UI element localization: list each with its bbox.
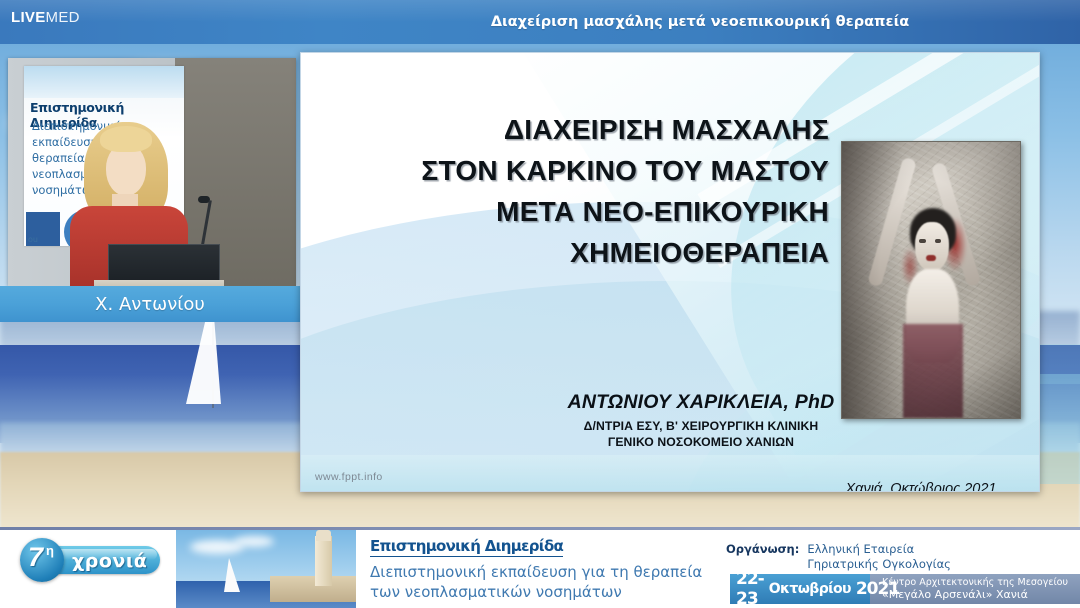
author-hospital: ΓΕΝΙΚΟ ΝΟΣΟΚΟΜΕΙΟ ΧΑΝΙΩΝ <box>471 435 931 449</box>
date-bar-date-panel: 22-23 Οκτωβρίου 2021 <box>730 574 870 604</box>
event-date-days: 22-23 <box>730 569 764 608</box>
organizer-label: Οργάνωση: <box>726 542 799 572</box>
speaker-name-label: Χ. Αντωνίου <box>95 294 205 315</box>
slide-title-line: ΣΤΟΝ ΚΑΡΚΙΝΟ ΤΟΥ ΜΑΣΤΟΥ <box>349 150 829 191</box>
slide-watermark: www.fppt.info <box>315 471 383 483</box>
badge-word-label: χρονιά <box>72 550 147 572</box>
author-name: ΑΝΤΩΝΙΟΥ ΧΑΡΙΚΛΕΙΑ, PhD <box>471 391 931 414</box>
venue-line-2: «Μεγάλο Αρσενάλι» Χανιά <box>882 588 1028 601</box>
artwork-vignette <box>842 142 1020 418</box>
footer-event-heading: Επιστημονική Διημερίδα <box>370 537 563 557</box>
livemed-logo[interactable]: LIVEMED <box>11 9 80 26</box>
sailboat-sail <box>224 558 240 592</box>
speaker-video-panel[interactable]: Επιστημονική Διημερίδα Διεπιστημονική εκ… <box>8 58 296 286</box>
banner-footer-mark: ou <box>28 235 38 244</box>
speaker-fringe <box>100 126 152 152</box>
speaker-name-bar: Χ. Αντωνίου <box>0 286 300 322</box>
presentation-header-title: Διαχείριση μασχάλης μετά νεοεπικουρική θ… <box>330 0 1070 44</box>
logo-med-text: MED <box>46 9 80 26</box>
footer-organizer: Οργάνωση: Ελληνική Εταιρεία Γηριατρικής … <box>726 542 951 572</box>
cloud-shape <box>234 536 274 547</box>
slide-author-block: ΑΝΤΩΝΙΟΥ ΧΑΡΙΚΛΕΙΑ, PhD Δ/ΝΤΡΙΑ ΕΣΥ, Β' … <box>471 391 931 449</box>
player-top-bar: LIVEMED Διαχείριση μασχάλης μετά νεοεπικ… <box>0 0 1080 44</box>
footer-event-subtitle-line: των νεοπλασματικών νοσημάτων <box>370 582 702 602</box>
venue-line-1: Κέντρο Αρχιτεκτονικής της Μεσογείου <box>882 577 1068 588</box>
anniversary-badge: χρονιά 7 η <box>14 538 164 580</box>
slide-artwork-image <box>841 141 1021 419</box>
slide-title-line: ΜΕΤΑ ΝΕΟ-ΕΠΙΚΟΥΡΙΚΗ <box>349 191 829 232</box>
badge-ordinal: η <box>46 543 54 558</box>
presentation-viewer: LIVEMED Διαχείριση μασχάλης μετά νεοεπικ… <box>0 0 1080 608</box>
slide-title-line: ΔΙΑΧΕΙΡΙΣΗ ΜΑΣΧΑΛΗΣ <box>349 109 829 150</box>
footer-event-text: Επιστημονική Διημερίδα Διεπιστημονική εκ… <box>370 536 702 602</box>
badge-number: 7 <box>28 542 43 573</box>
footer-lighthouse-photo <box>176 530 356 608</box>
organizer-name-line: Γηριατρικής Ογκολογίας <box>807 557 951 572</box>
event-date-month: Οκτωβρίου <box>764 581 851 597</box>
slide-title-line: ΧΗΜΕΙΟΘΕΡΑΠΕΙΑ <box>349 232 829 273</box>
lighthouse-tower <box>315 536 332 586</box>
footer-date-venue-bar: 22-23 Οκτωβρίου 2021 Κέντρο Αρχιτεκτονικ… <box>730 574 1080 604</box>
slide-canvas[interactable]: ΔΙΑΧΕΙΡΙΣΗ ΜΑΣΧΑΛΗΣ ΣΤΟΝ ΚΑΡΚΙΝΟ ΤΟΥ ΜΑΣ… <box>300 52 1040 492</box>
banner-header-strip <box>24 66 184 98</box>
slide-date-place: Χανιά, Οκτώβριος 2021 <box>821 481 1021 492</box>
footer-event-subtitle-line: Διεπιστημονική εκπαίδευση για τη θεραπεί… <box>370 562 702 582</box>
logo-live-text: LIVE <box>11 9 46 26</box>
slide-title: ΔΙΑΧΕΙΡΙΣΗ ΜΑΣΧΑΛΗΣ ΣΤΟΝ ΚΑΡΚΙΝΟ ΤΟΥ ΜΑΣ… <box>349 109 829 273</box>
organizer-name-line: Ελληνική Εταιρεία <box>807 542 951 557</box>
author-role: Δ/ΝΤΡΙΑ ΕΣΥ, Β' ΧΕΙΡΟΥΡΓΙΚΗ ΚΛΙΝΙΚΗ <box>471 419 931 433</box>
footer-divider <box>0 527 1080 530</box>
lighthouse-base <box>270 576 356 602</box>
lighthouse-lantern <box>316 530 331 541</box>
